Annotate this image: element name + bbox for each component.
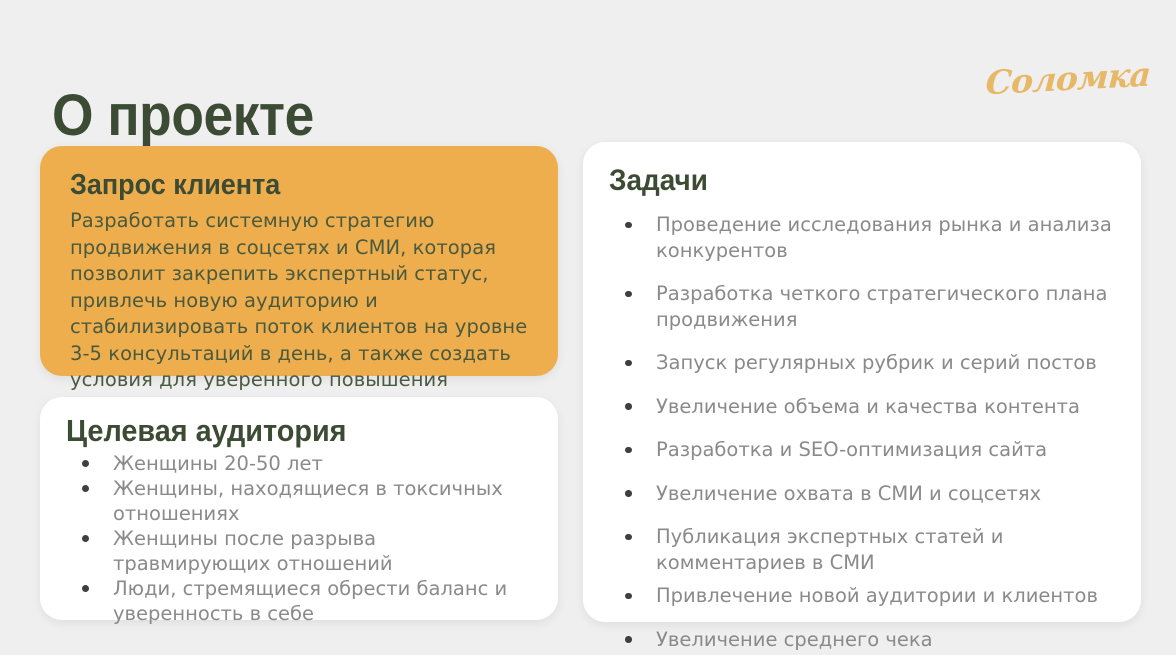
list-item: Проведение исследования рынка и анализа … (609, 212, 1115, 263)
list-item: Запуск регулярных рубрик и серий постов (609, 350, 1115, 376)
list-item: Женщины 20-50 лет (66, 451, 532, 476)
list-item: Разработка четкого стратегического плана… (609, 281, 1115, 332)
page-title: О проекте (52, 85, 314, 147)
tasks-heading: Задачи (609, 164, 1080, 198)
list-item: Привлечение новой аудитории и клиентов (609, 583, 1115, 609)
client-request-card: Запрос клиента Разработать системную стр… (40, 146, 558, 376)
tasks-list: Проведение исследования рынка и анализа … (609, 212, 1115, 652)
slide-root: О проекте Соломка Запрос клиента Разрабо… (0, 0, 1176, 655)
list-item: Женщины после разрыва травмирующих отнош… (66, 526, 532, 576)
list-item: Увеличение среднего чека (609, 627, 1115, 653)
list-item: Увеличение охвата в СМИ и соцсетях (609, 481, 1115, 507)
target-audience-list: Женщины 20-50 лет Женщины, находящиеся в… (66, 451, 532, 626)
list-item: Женщины, находящиеся в токсичных отношен… (66, 476, 532, 526)
client-request-heading: Запрос клиента (70, 168, 496, 202)
target-audience-card: Целевая аудитория Женщины 20-50 лет Женщ… (40, 397, 558, 620)
list-item: Разработка и SEO-оптимизация сайта (609, 437, 1115, 463)
list-item: Увеличение объема и качества контента (609, 394, 1115, 420)
brand-logo: Соломка (986, 56, 1136, 116)
target-audience-heading: Целевая аудитория (66, 413, 499, 449)
list-item: Публикация экспертных статей и комментар… (609, 524, 1115, 575)
tasks-card: Задачи Проведение исследования рынка и а… (583, 142, 1141, 622)
list-item: Люди, стремящиеся обрести баланс и увере… (66, 576, 532, 626)
client-request-body: Разработать системную стратегию продвиже… (70, 208, 528, 420)
logo-wordmark: Соломка (984, 52, 1151, 107)
